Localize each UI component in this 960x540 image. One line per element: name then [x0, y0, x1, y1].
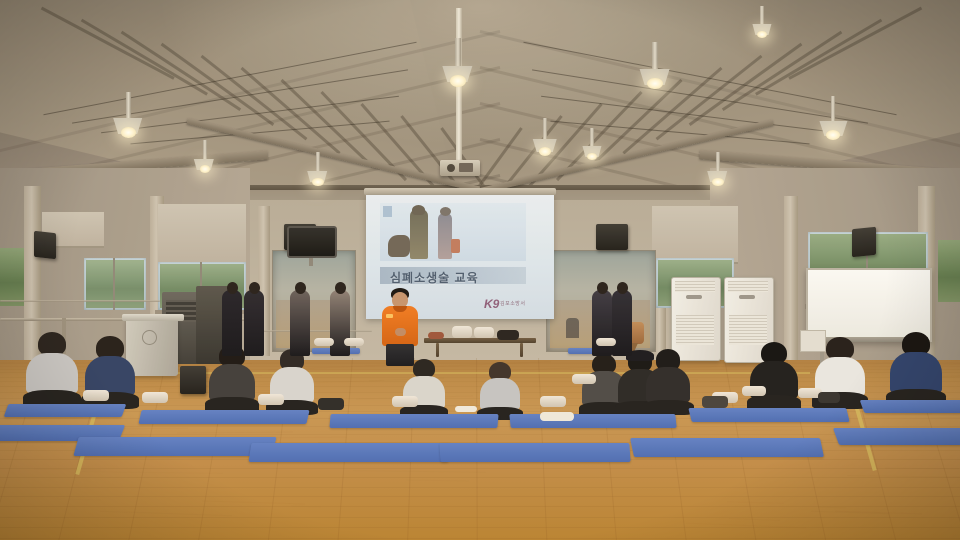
- instructor-hands: [395, 328, 406, 336]
- lamp-rod-6: [831, 96, 836, 121]
- manikin-floor-4: [392, 396, 418, 407]
- pendant-lamp-0: [113, 92, 143, 149]
- pendant-lamp-7: [752, 6, 773, 46]
- lamp-rod-2: [455, 38, 460, 66]
- mat-row2-4: [439, 443, 630, 462]
- audience-member-10-torso: [815, 357, 864, 397]
- paper-stack-2: [455, 406, 477, 412]
- audience-member-4: [398, 359, 450, 418]
- audience-member-8-torso: [646, 367, 691, 403]
- manikin-back-1: [314, 338, 334, 346]
- lamp-rod-4: [652, 42, 657, 69]
- instructor-trousers: [386, 344, 414, 366]
- pendant-lamp-5: [707, 152, 729, 194]
- pendant-lamp-6: [819, 96, 848, 151]
- bag-floor-2: [702, 396, 728, 408]
- standing-person-5: [612, 290, 632, 356]
- lamp-bulb-2: [450, 75, 466, 86]
- manikin-floor-2: [142, 392, 168, 403]
- manikin-floor-3: [258, 394, 284, 405]
- audience-member-5: [475, 362, 525, 420]
- instructor-badge: [386, 314, 393, 318]
- audience-member-9: [744, 342, 804, 410]
- photo-scene: 심폐소생술 교육 K9 김포소방서: [0, 0, 960, 540]
- lamp-rod-9: [590, 128, 594, 146]
- pendant-lamp-4: [640, 42, 671, 100]
- mat-row2-2: [73, 437, 276, 456]
- manikin-back-3: [596, 338, 616, 346]
- instructor: [378, 288, 422, 364]
- bag-floor-1: [318, 398, 344, 410]
- mat-row1-6: [860, 400, 960, 413]
- pendant-lamp-3: [533, 118, 558, 165]
- standing-person-5-head: [617, 282, 628, 294]
- instructor-uniform: [382, 306, 418, 346]
- lamp-rod-0: [126, 92, 131, 118]
- lamp-rod-8: [203, 140, 207, 159]
- audience-member-5-torso: [480, 378, 520, 410]
- mat-row1-5: [688, 408, 849, 422]
- mat-row1-4: [509, 414, 676, 428]
- lamp-bulb-7: [757, 31, 768, 39]
- bag-floor-3: [818, 392, 840, 403]
- manikin-floor-1: [83, 390, 109, 401]
- pendant-lamp-1: [307, 152, 329, 194]
- audience-member-11-torso: [890, 352, 942, 393]
- lamp-rod-3: [543, 118, 547, 139]
- lamp-rod-7: [760, 6, 764, 24]
- standing-person-1-head: [249, 282, 260, 294]
- mat-row1-2: [138, 410, 309, 424]
- mat-row2-3: [248, 443, 451, 462]
- lamp-bulb-9: [587, 153, 598, 161]
- audience-member-0-torso: [26, 353, 77, 394]
- mat-row1-3: [329, 414, 498, 428]
- standing-person-1: [244, 290, 264, 356]
- lamp-bulb-3: [539, 147, 551, 156]
- pendant-lamp-2: [442, 38, 474, 98]
- lamp-rod-1: [316, 152, 320, 171]
- lamp-bulb-4: [647, 78, 662, 89]
- mat-row1-1: [4, 404, 127, 417]
- manikin-floor-8: [742, 386, 766, 396]
- lamp-bulb-0: [121, 127, 136, 138]
- mat-row2-6: [833, 428, 960, 445]
- standing-person-3: [330, 290, 350, 356]
- standing-person-4-head: [597, 282, 608, 294]
- audience-member-8: [640, 349, 696, 413]
- standing-person-3-head: [335, 282, 346, 294]
- manikin-floor-6: [572, 374, 596, 384]
- lamp-bulb-8: [200, 165, 211, 173]
- audience-member-2-torso: [209, 364, 255, 401]
- mat-row2-5: [630, 438, 824, 457]
- audience-member-8-legs: [642, 400, 694, 415]
- lamp-bulb-1: [312, 178, 323, 186]
- standing-person-2: [290, 290, 310, 356]
- lamp-rod-5: [716, 152, 720, 171]
- lamp-bulb-6: [826, 130, 840, 140]
- pendant-lamp-8: [194, 140, 216, 181]
- standing-person-2-head: [295, 282, 306, 294]
- paper-stack: [540, 412, 574, 421]
- standing-person-0-head: [227, 282, 238, 294]
- pendant-lamp-9: [582, 128, 603, 168]
- audience-member-11: [884, 332, 948, 406]
- standing-person-0: [222, 290, 242, 356]
- audience-member-0: [20, 332, 84, 406]
- manikin-back-2: [344, 338, 364, 346]
- standing-person-4: [592, 290, 612, 356]
- manikin-floor-5: [540, 396, 566, 407]
- lamp-bulb-5: [712, 178, 723, 186]
